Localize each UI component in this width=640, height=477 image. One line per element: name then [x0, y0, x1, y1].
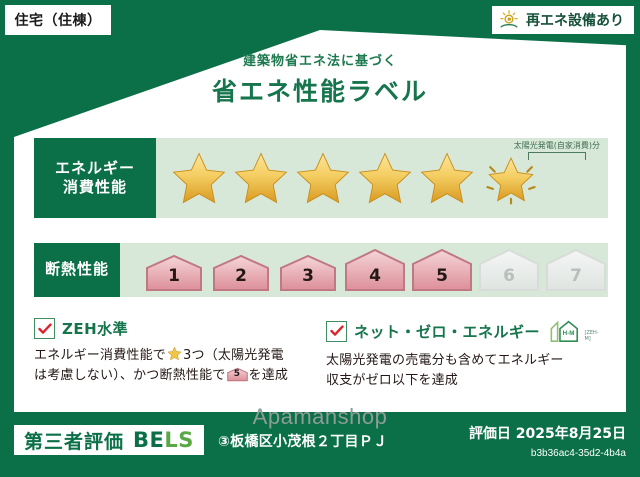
insulation-level-scale: 1 2 3 4 5	[120, 248, 608, 292]
evaluation-date: 評価日 2025年8月25日	[469, 423, 626, 443]
insulation-level-3: 3	[276, 254, 340, 292]
nze-note-title: ネット・ゼロ・エネルギー	[354, 321, 540, 342]
zeh-body-pre: エネルギー消費性能で	[34, 348, 166, 363]
renewable-energy-badge: 再エネ設備あり	[492, 6, 634, 34]
evaluation-id: b3b36ac4-35d2-4b4a	[531, 448, 626, 459]
bels-logo-part2: LS	[164, 428, 194, 452]
star-icon	[170, 149, 228, 207]
renewable-badge-label: 再エネ設備あり	[526, 10, 624, 30]
svg-text:H-M: H-M	[563, 330, 575, 337]
insulation-level-7: 7	[544, 248, 608, 292]
nze-body-line2: 収支がゼロ以下を達成	[326, 373, 458, 388]
insulation-row-body: 1 2 3 4 5	[120, 243, 608, 297]
nze-body-line1: 太陽光発電の売電分も含めてエネルギー	[326, 353, 564, 368]
energy-performance-row: エネルギー 消費性能	[34, 138, 608, 218]
insulation-level-number: 5	[410, 266, 474, 286]
energy-label-line1: エネルギー	[55, 159, 135, 179]
bels-jp-label: 第三者評価	[24, 427, 124, 454]
insulation-level-2: 2	[209, 254, 273, 292]
solar-caption-group: 太陽光発電(自家消費)分	[514, 140, 600, 160]
star-icon	[418, 149, 476, 207]
zeh-m-logo-icon: H-M [ZEH-M]	[549, 318, 604, 344]
building-type-label: 住宅（住棟）	[15, 10, 102, 30]
title-subtitle: 建築物省エネ法に基づく	[0, 50, 640, 69]
page-title: 省エネ性能ラベル	[0, 72, 640, 108]
inline-house-number: 5	[227, 368, 248, 382]
zeh-body-mid: 3つ（太陽光発電	[183, 348, 284, 363]
insulation-level-number: 1	[142, 266, 206, 286]
bels-en-logo: BELS	[133, 428, 194, 452]
insulation-level-number: 3	[276, 266, 340, 286]
energy-row-label: エネルギー 消費性能	[34, 138, 156, 218]
energy-label-line2: 消費性能	[63, 178, 127, 198]
insulation-level-number: 4	[343, 266, 407, 286]
insulation-level-6: 6	[477, 248, 541, 292]
energy-label-poster: 住宅（住棟） 再エネ設備あり 建築物省エネ法に基づく 省エネ性能ラベル	[0, 0, 640, 477]
property-name: ③板橋区小茂根２丁目ＰＪ	[218, 431, 387, 451]
checkbox-checked-icon	[326, 321, 347, 342]
zeh-body-line2-pre: は考慮しない）、かつ断熱性能で	[34, 368, 226, 383]
inline-house-badge-icon: 5	[227, 367, 248, 382]
inline-star-icon	[166, 348, 183, 363]
star-rating	[156, 147, 542, 209]
insulation-level-5: 5	[410, 248, 474, 292]
sun-icon	[498, 9, 520, 31]
zeh-body-end: を達成	[249, 368, 289, 383]
insulation-level-number: 6	[477, 266, 541, 286]
net-zero-energy-note: ネット・ゼロ・エネルギー H-M [ZEH-M] 太陽光発電の売電分も含めてエネ…	[326, 318, 604, 391]
star-icon	[356, 149, 414, 207]
criteria-notes: ZEH水準 エネルギー消費性能で3つ（太陽光発電 は考慮しない）、かつ断熱性能で…	[34, 318, 612, 391]
title-block: 建築物省エネ法に基づく 省エネ性能ラベル	[0, 50, 640, 108]
checkbox-checked-icon	[34, 318, 55, 339]
nze-note-head: ネット・ゼロ・エネルギー H-M [ZEH-M]	[326, 318, 604, 344]
star-icon	[294, 149, 352, 207]
solar-bracket	[528, 152, 586, 160]
insulation-label-line1: 断熱性能	[45, 260, 109, 280]
bels-badge: 第三者評価 BELS	[14, 425, 204, 455]
insulation-level-4: 4	[343, 248, 407, 292]
insulation-row-label: 断熱性能	[34, 243, 120, 297]
building-type-tag: 住宅（住棟）	[6, 6, 110, 34]
bels-logo-part1: BE	[133, 428, 164, 452]
zeh-note-head: ZEH水準	[34, 318, 312, 339]
zeh-note-title: ZEH水準	[62, 318, 128, 339]
insulation-level-1: 1	[142, 254, 206, 292]
insulation-level-number: 2	[209, 266, 273, 286]
star-icon	[232, 149, 290, 207]
zeh-m-logo-caption: [ZEH-M]	[584, 330, 604, 342]
energy-row-body: 太陽光発電(自家消費)分	[156, 138, 608, 218]
insulation-level-number: 7	[544, 266, 608, 286]
insulation-performance-row: 断熱性能 1 2 3 4	[34, 243, 608, 297]
solar-caption-text: 太陽光発電(自家消費)分	[514, 140, 600, 151]
nze-note-body: 太陽光発電の売電分も含めてエネルギー 収支がゼロ以下を達成	[326, 351, 604, 391]
zeh-standard-note: ZEH水準 エネルギー消費性能で3つ（太陽光発電 は考慮しない）、かつ断熱性能で…	[34, 318, 312, 391]
zeh-note-body: エネルギー消費性能で3つ（太陽光発電 は考慮しない）、かつ断熱性能で5を達成	[34, 346, 312, 386]
